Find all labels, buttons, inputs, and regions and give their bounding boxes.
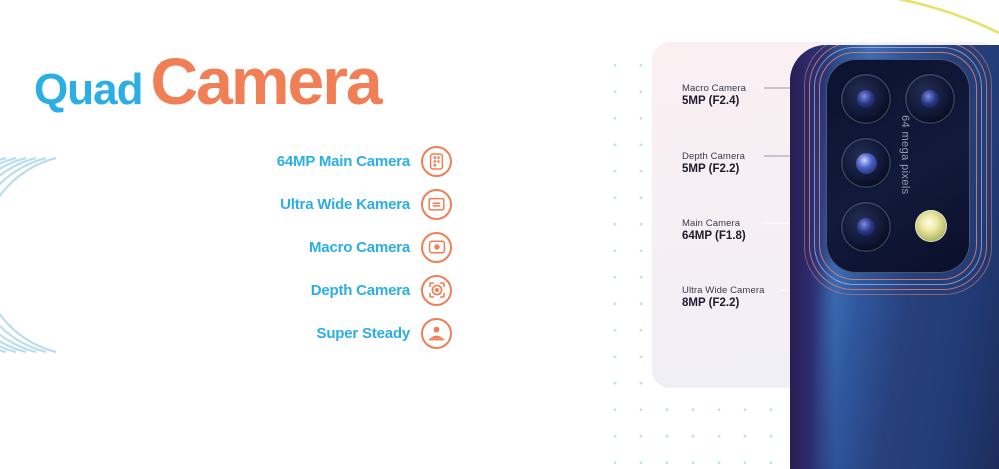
spec-value-ultra-wide: 8MP (F2.2) — [682, 297, 739, 309]
spec-value-depth: 5MP (F2.2) — [682, 163, 739, 175]
spec-label-main: Main Camera — [682, 218, 740, 229]
feature-item-depth[interactable]: Depth Camera — [60, 269, 452, 311]
sensor-icon — [421, 146, 452, 177]
left-decorative-arcs — [0, 150, 58, 360]
ultra-wide-icon — [421, 189, 452, 220]
feature-item-ultra-wide[interactable]: Ultra Wide Kamera — [60, 183, 452, 225]
feature-label: Macro Camera — [309, 239, 410, 256]
right-panel: Macro Camera 5MP (F2.4) Depth Camera 5MP… — [580, 0, 999, 469]
title-word-quad: Quad — [34, 65, 142, 114]
spec-value-main: 64MP (F1.8) — [682, 230, 746, 242]
spec-label-ultra-wide: Ultra Wide Camera — [682, 285, 764, 296]
megapixel-label: 64 mega pixels — [891, 115, 911, 205]
spec-label-depth: Depth Camera — [682, 151, 745, 162]
feature-item-macro[interactable]: Macro Camera — [60, 226, 452, 268]
flash-led — [915, 210, 947, 242]
phone-device: 64 mega pixels — [790, 45, 999, 469]
super-steady-icon — [421, 318, 452, 349]
left-panel: QuadCamera 64MP Main Camera Ultr — [0, 0, 580, 469]
feature-item-main-camera[interactable]: 64MP Main Camera — [60, 140, 452, 182]
camera-feature-banner: QuadCamera 64MP Main Camera Ultr — [0, 0, 999, 469]
macro-icon — [421, 232, 452, 263]
feature-label: 64MP Main Camera — [277, 153, 410, 170]
spec-label-macro: Macro Camera — [682, 83, 746, 94]
feature-label: Depth Camera — [311, 282, 410, 299]
camera-module: 64 mega pixels — [826, 59, 970, 273]
spec-value-macro: 5MP (F2.4) — [682, 95, 739, 107]
lens-depth — [841, 74, 891, 124]
depth-icon — [421, 275, 452, 306]
lens-macro — [905, 74, 955, 124]
page-title: QuadCamera — [34, 48, 381, 114]
feature-label: Ultra Wide Kamera — [280, 196, 410, 213]
title-word-camera: Camera — [150, 44, 380, 118]
lens-ultra-wide — [841, 202, 891, 252]
feature-label: Super Steady — [317, 325, 410, 342]
feature-item-super-steady[interactable]: Super Steady — [60, 312, 452, 354]
feature-list: 64MP Main Camera Ultra Wide Kamera — [60, 140, 452, 355]
lens-main — [841, 138, 891, 188]
